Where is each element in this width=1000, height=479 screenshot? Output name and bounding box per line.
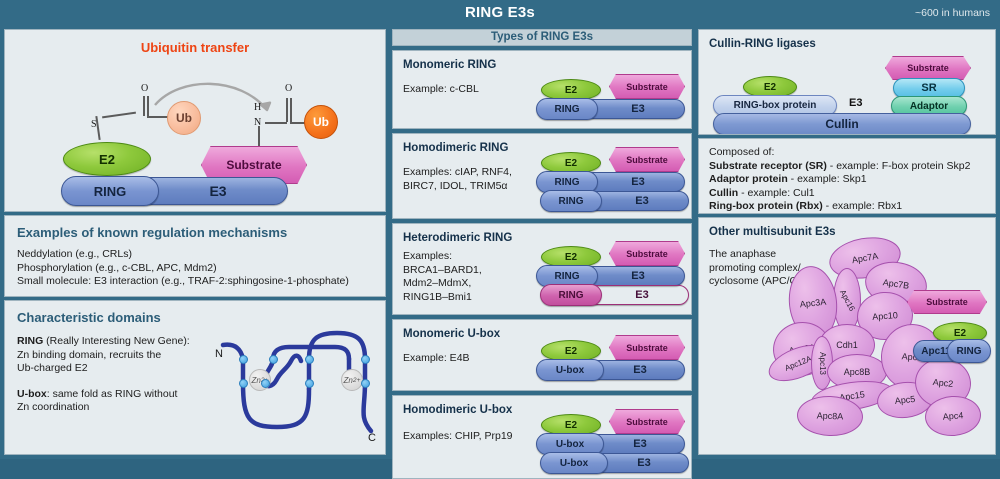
ring-cap: RING xyxy=(61,176,159,206)
bond-c-o-b xyxy=(147,96,149,116)
substrate-hexagon: Substrate xyxy=(609,241,685,266)
domains-title: Characteristic domains xyxy=(17,310,373,325)
bond-c-ub xyxy=(147,116,169,118)
ring-label: RING xyxy=(555,177,580,188)
apc-label: Apc4 xyxy=(942,410,963,421)
panel-cullin-ring-ligases: Cullin-RING ligases Substrate SR Adaptor… xyxy=(698,29,996,135)
panel-ubiquitin-transfer: Ubiquitin transfer S O Ub N H O xyxy=(4,29,386,212)
zn-ball-right: Zn2+ xyxy=(341,369,363,391)
composition-bold: Cullin xyxy=(709,187,738,199)
substrate-hexagon: Substrate xyxy=(885,56,971,80)
bond-cr-o-b xyxy=(290,98,292,122)
regulation-item: Phosphorylation (e.g., c-CBL, APC, Mdm2) xyxy=(17,262,373,276)
diagram-monomeric-ubox: E2 Substrate E3 U-box xyxy=(533,328,688,386)
ring-cap: RING xyxy=(947,339,991,363)
substrate-label: Substrate xyxy=(626,343,668,353)
block-heterodimeric-ring: Heterodimeric RING Examples: BRCA1–BARD1… xyxy=(392,223,692,315)
zn-node xyxy=(261,379,270,388)
figure-root: RING E3s ~600 in humans Ubiquitin transf… xyxy=(0,0,1000,459)
zn-node xyxy=(305,355,314,364)
substrate-label: Substrate xyxy=(907,63,949,73)
composition-row: Adaptor protein - example: Skp1 xyxy=(709,173,985,187)
ubox-domain-line2: Zn coordination xyxy=(17,401,227,415)
substrate-hexagon: Substrate xyxy=(609,147,685,172)
substrate-hexagon: Substrate xyxy=(609,335,685,360)
ring-cap-pink: RING xyxy=(540,284,602,306)
e2-label: E2 xyxy=(565,346,577,357)
ring-label: RING xyxy=(559,290,584,301)
zn-node xyxy=(361,379,370,388)
ring-label: RING xyxy=(957,346,982,357)
ubox-cap: U-box xyxy=(540,452,608,474)
e2-label: E2 xyxy=(565,158,577,169)
e3-label: E3 xyxy=(631,270,644,282)
panel-other-multisubunit-e3s: Other multisubunit E3s The anaphase prom… xyxy=(698,217,996,455)
zn-node xyxy=(239,379,248,388)
ubox-label: U-box xyxy=(556,439,584,450)
ring-box-protein-label: RING-box protein xyxy=(734,100,817,111)
sr-label: SR xyxy=(921,82,936,94)
composition-bold: Ring-box protein (Rbx) xyxy=(709,200,823,212)
header-note: ~600 in humans xyxy=(915,7,990,19)
atom-label-o-right: O xyxy=(285,83,292,94)
block-homodimeric-ubox: Homodimeric U-box Examples: CHIP, Prp19 … xyxy=(392,395,692,479)
ring-domain-text: (Really Interesting New Gene): xyxy=(43,335,189,347)
apc-label: Apc2 xyxy=(932,377,953,389)
regulation-title: Examples of known regulation mechanisms xyxy=(17,225,373,240)
cullin-bar: Cullin xyxy=(713,113,971,135)
diagram-apcc: Apc7A Apc7B Apc16 Apc3A Apc10 Apc6A Cdh1… xyxy=(777,236,989,446)
zinc-finger-diagram: N C Zn2+ Zn2+ xyxy=(213,327,381,449)
composition-bold: Substrate receptor (SR) xyxy=(709,160,827,172)
diagram-crl: Substrate SR Adaptor E2 RING-box protein… xyxy=(713,56,985,130)
e2-label: E2 xyxy=(565,252,577,263)
e2-label: E2 xyxy=(764,82,776,93)
e2-label: E2 xyxy=(99,152,115,167)
apc-label: Apc7B xyxy=(882,277,910,291)
ub-left-label: Ub xyxy=(176,111,192,125)
ubox-domain-bold: U-box xyxy=(17,388,47,400)
apc-label: Apc5 xyxy=(894,394,915,406)
e2-label: E2 xyxy=(954,328,966,339)
composition-rest: - example: Cul1 xyxy=(738,187,814,199)
block-homodimeric-ring: Homodimeric RING Examples: cIAP, RNF4, B… xyxy=(392,133,692,219)
composition-row: Ring-box protein (Rbx) - example: Rbx1 xyxy=(709,200,985,214)
ring-cap: RING xyxy=(540,190,602,212)
left-column: Ubiquitin transfer S O Ub N H O xyxy=(4,29,386,455)
panel-characteristic-domains: Characteristic domains RING (Really Inte… xyxy=(4,300,386,455)
composition-rest: - example: Rbx1 xyxy=(823,200,902,212)
ubox-label: U-box xyxy=(560,458,588,469)
apc-label: Apc3A xyxy=(799,297,826,310)
regulation-item: Small molecule: E3 interaction (e.g., TR… xyxy=(17,275,373,289)
substrate-label: Substrate xyxy=(626,82,668,92)
right-column: Cullin-RING ligases Substrate SR Adaptor… xyxy=(698,29,996,455)
block-monomeric-ubox: Monomeric U-box Example: E4B E2 Substrat… xyxy=(392,319,692,391)
atom-label-o-left: O xyxy=(141,83,148,94)
diagram-homodimeric-ubox: E2 Substrate E3 U-box E3 U-box xyxy=(533,404,688,476)
e3-label: E3 xyxy=(849,97,862,109)
e3-label: E3 xyxy=(635,195,648,207)
zn-node xyxy=(305,379,314,388)
middle-column: Types of RING E3s Monomeric RING Example… xyxy=(392,29,692,455)
substrate-hexagon: Substrate xyxy=(609,74,685,99)
zn-node xyxy=(361,355,370,364)
ring-domain-line2: Zn binding domain, recruits the xyxy=(17,349,227,363)
ring-domain-line3: Ub-charged E2 xyxy=(17,362,227,376)
diagram-monomeric-ring: E2 Substrate E3 RING xyxy=(533,65,688,123)
apc-label: Apc13 xyxy=(818,352,827,375)
ring-domain-bold: RING xyxy=(17,335,43,347)
composition-rest: - example: Skp1 xyxy=(788,173,867,185)
composition-rest: - example: F-box protein Skp2 xyxy=(827,160,971,172)
panel-regulation-mechanisms: Examples of known regulation mechanisms … xyxy=(4,215,386,297)
e2-ellipse: E2 xyxy=(63,142,151,176)
c-terminus-label: C xyxy=(368,432,376,444)
e3-label: E3 xyxy=(631,103,644,115)
ring-label: RING xyxy=(555,104,580,115)
bond-cr-o-a xyxy=(286,98,288,122)
apc-label: Apc7A xyxy=(851,251,879,265)
zn-node xyxy=(269,355,278,364)
bond-c-o-a xyxy=(143,96,145,116)
atom-label-h: H xyxy=(254,102,261,113)
substrate-label: Substrate xyxy=(626,249,668,259)
panel-crl-composition: Composed of: Substrate receptor (SR) - e… xyxy=(698,138,996,214)
e3-label: E3 xyxy=(633,438,646,450)
substrate-label: Substrate xyxy=(626,417,668,427)
apc-label: Cdh1 xyxy=(836,340,858,350)
apc-label: Apc8A xyxy=(817,411,844,422)
e3-label: E3 xyxy=(631,176,644,188)
apc-label: Apc16 xyxy=(838,288,857,312)
types-banner: Types of RING E3s xyxy=(392,29,692,46)
ub-right-label: Ub xyxy=(313,115,329,129)
ring-cap: RING xyxy=(536,98,598,120)
zn-node xyxy=(239,355,248,364)
ring-label: RING xyxy=(94,184,127,199)
e2-label: E2 xyxy=(565,420,577,431)
ubox-label: U-box xyxy=(556,365,584,376)
diagram-heterodimeric-ring: E2 Substrate E3 RING E3 RING xyxy=(533,236,688,310)
composition-row: Substrate receptor (SR) - example: F-box… xyxy=(709,160,985,174)
apc-label: Apc10 xyxy=(872,310,898,322)
ubox-cap: U-box xyxy=(536,359,604,381)
bond-n-c xyxy=(265,122,287,124)
e3-label: E3 xyxy=(633,364,646,376)
regulation-item: Neddylation (e.g., CRLs) xyxy=(17,248,373,262)
e2-label: E2 xyxy=(565,85,577,96)
crl-title: Cullin-RING ligases xyxy=(709,38,985,50)
sr-cap: SR xyxy=(893,78,965,98)
apc-subunit-apc16: Apc16 xyxy=(833,268,861,332)
substrate-label: Substrate xyxy=(226,158,281,172)
block-monomeric-ring: Monomeric RING Example: c-CBL E2 Substra… xyxy=(392,50,692,129)
substrate-label: Substrate xyxy=(926,297,968,307)
composed-label: Composed of: xyxy=(709,146,985,160)
figure-header: RING E3s ~600 in humans xyxy=(0,0,1000,27)
cullin-label: Cullin xyxy=(825,117,858,131)
apc-label: Apc8B xyxy=(844,367,871,377)
page-title: RING E3s xyxy=(0,4,1000,21)
e3-label: E3 xyxy=(209,183,226,199)
substrate-hexagon: Substrate xyxy=(907,290,987,314)
e3-label: E3 xyxy=(635,289,648,301)
ub-orange-circle: Ub xyxy=(304,105,338,139)
bond-n-substrate xyxy=(258,126,260,148)
ubox-domain-text: : same fold as RING without xyxy=(47,388,178,400)
ub-pale-circle: Ub xyxy=(167,101,201,135)
diagram-homodimeric-ring: E2 Substrate E3 RING E3 RING xyxy=(533,142,688,214)
composition-bold: Adaptor protein xyxy=(709,173,788,185)
composition-row: Cullin - example: Cul1 xyxy=(709,187,985,201)
substrate-label: Substrate xyxy=(626,155,668,165)
ring-label: RING xyxy=(559,196,584,207)
n-terminus-label: N xyxy=(215,348,223,360)
apc-label: Apc12A xyxy=(783,354,812,373)
adaptor-label: Adaptor xyxy=(910,101,948,112)
ring-label: RING xyxy=(555,271,580,282)
substrate-hexagon: Substrate xyxy=(609,409,685,434)
